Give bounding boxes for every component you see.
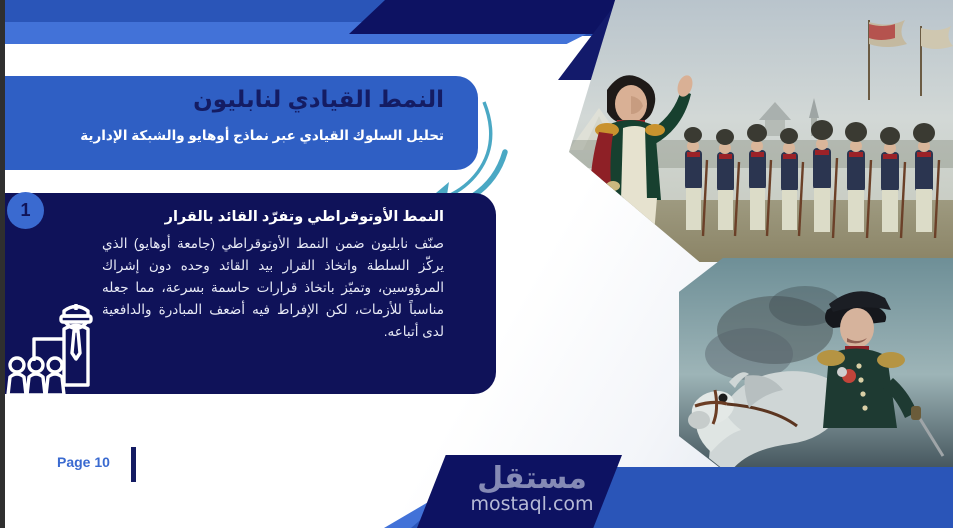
napoleon-on-horseback-photo [679,258,953,470]
slide-canvas: النمط القيادي لنابليون تحليل السلوك القي… [0,0,953,528]
content-heading: النمط الأوتوقراطي وتفرّد القائد بالقرار [102,207,444,227]
title-card: النمط القيادي لنابليون تحليل السلوك القي… [0,76,478,170]
content-body: صنّف نابليون ضمن النمط الأوتوقراطي (جامع… [102,233,444,342]
slide-left-edge [0,0,5,528]
page-number-label: Page 10 [57,454,110,470]
page-subtitle: تحليل السلوك القيادي عبر نماذج أوهايو وا… [0,126,444,146]
page-title: النمط القيادي لنابليون [0,85,444,114]
step-number-badge: 1 [7,192,44,229]
content-card: النمط الأوتوقراطي وتفرّد القائد بالقرار … [0,193,496,394]
footer-bar-navy [417,455,622,528]
page-number-accent-bar [131,447,136,482]
